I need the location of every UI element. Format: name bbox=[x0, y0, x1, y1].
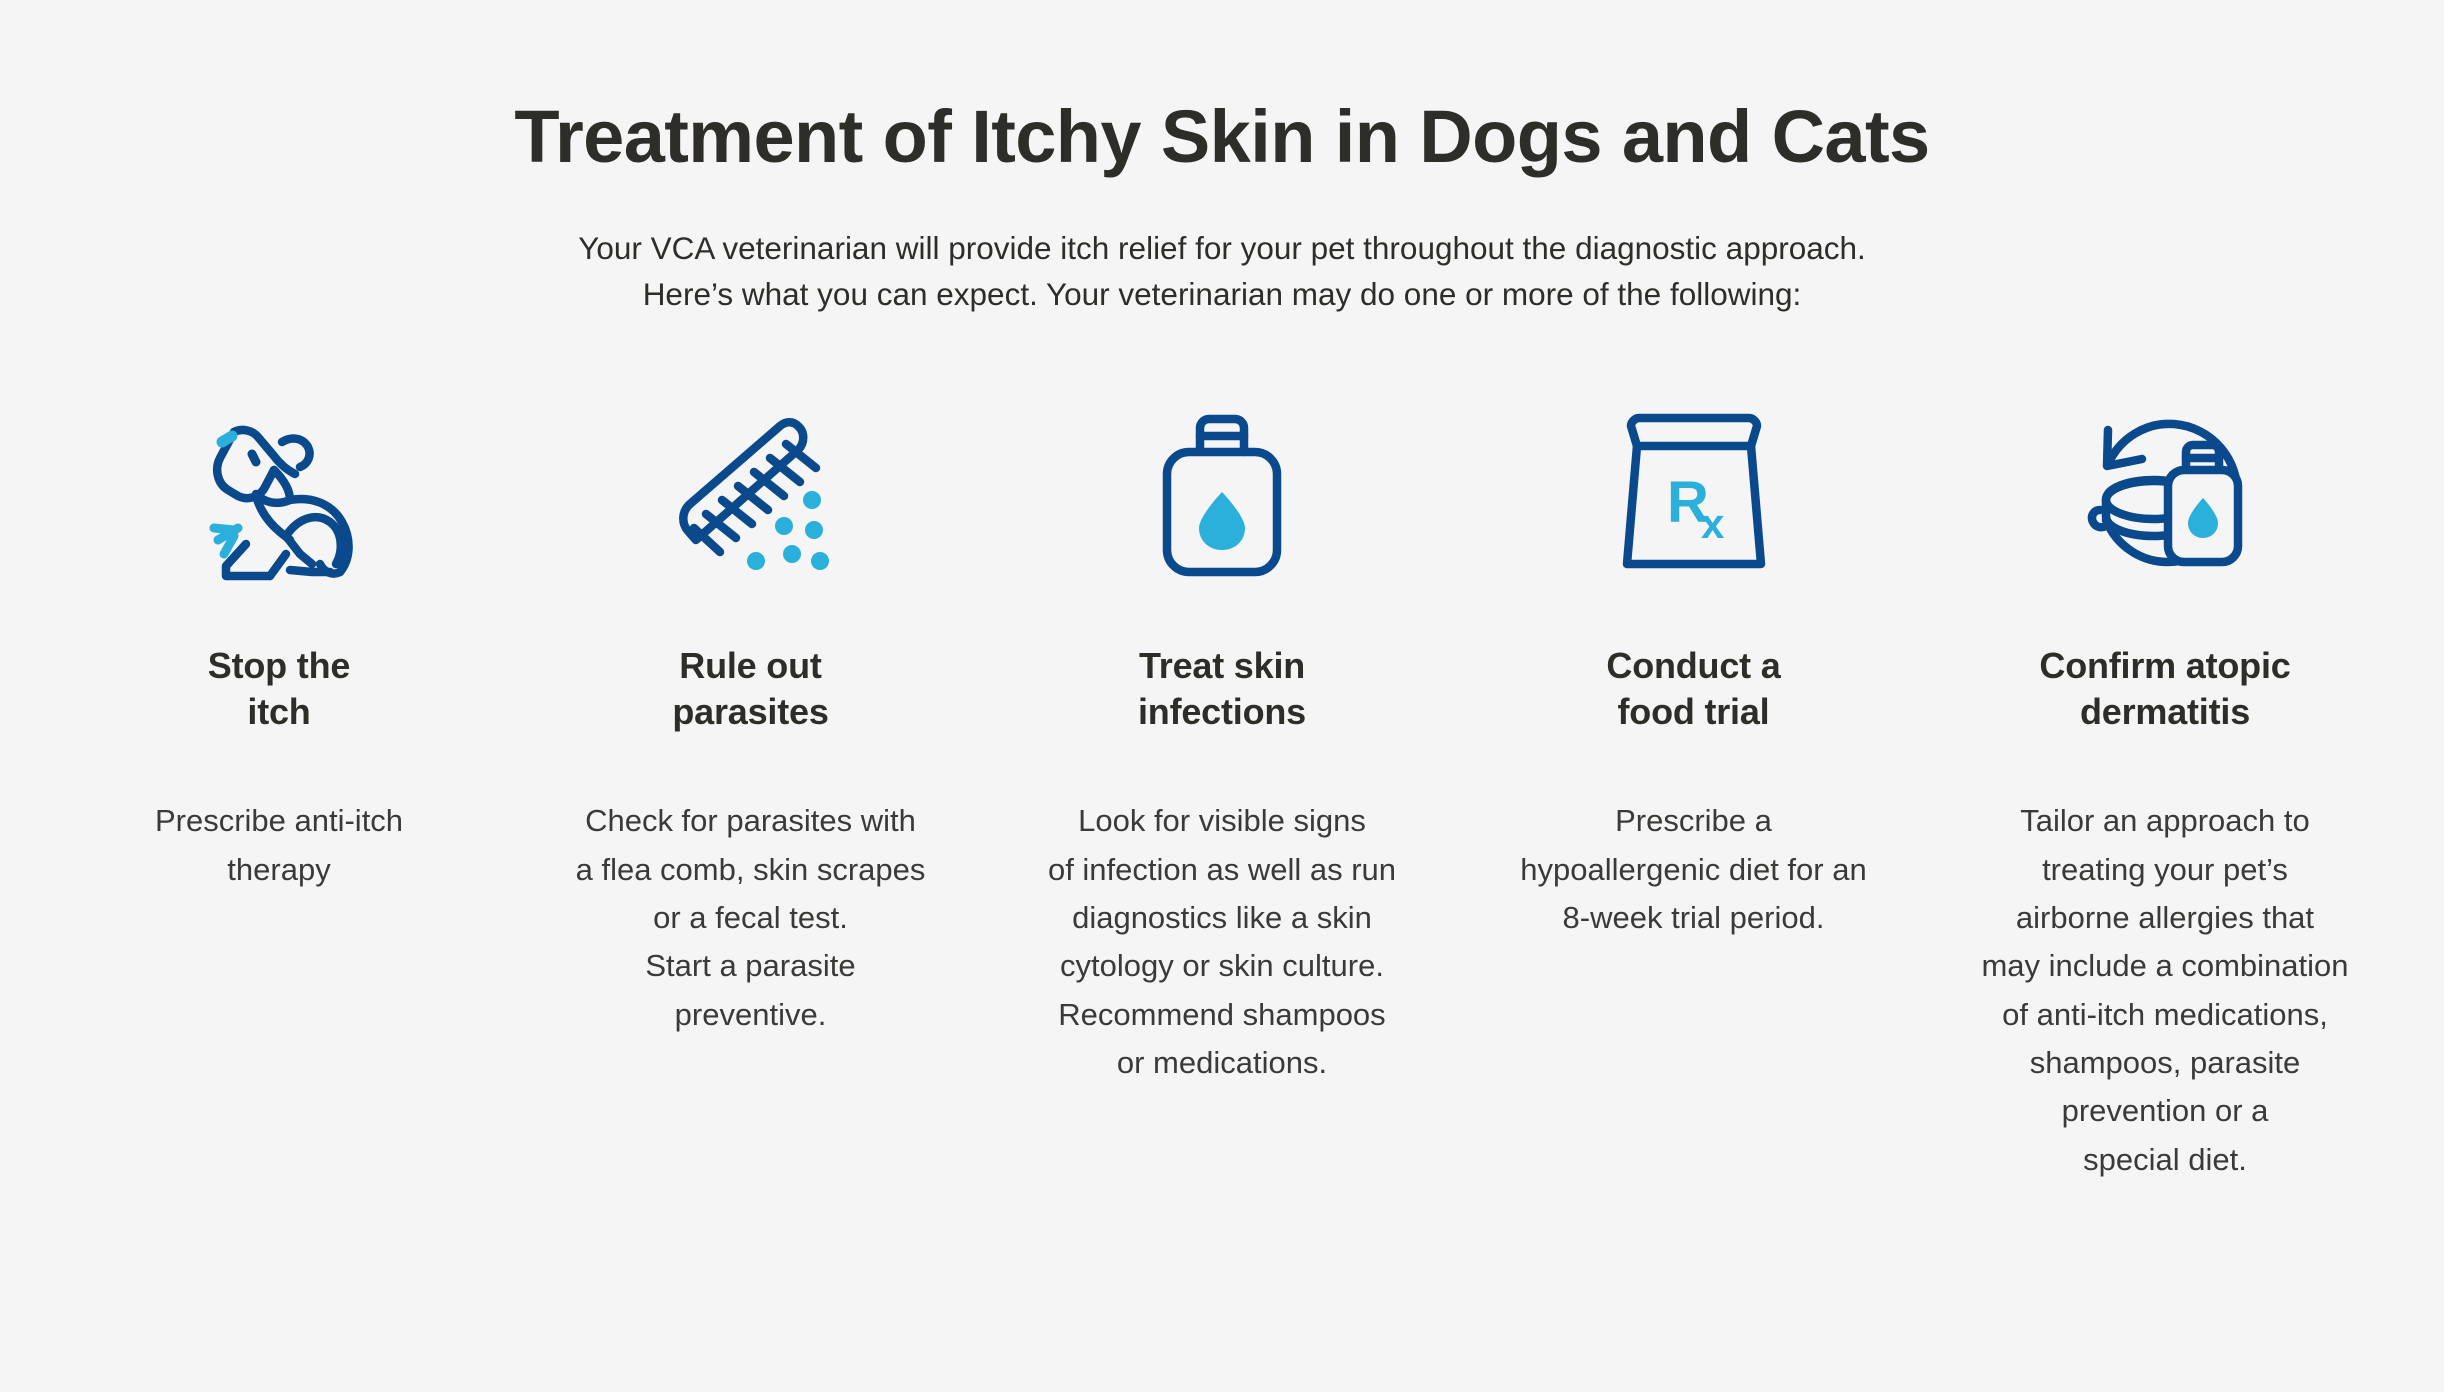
step-body-line: special diet. bbox=[1981, 1136, 2348, 1184]
step-body-line: diagnostics like a skin bbox=[1048, 894, 1396, 942]
step-title: Treat skin infections bbox=[1138, 643, 1306, 735]
step-title-line-1: Conduct a bbox=[1606, 643, 1780, 689]
step-body-line: of anti-itch medications, bbox=[1981, 991, 2348, 1039]
step-body-line: hypoallergenic diet for an bbox=[1520, 846, 1866, 894]
step-title-line-2: dermatitis bbox=[2039, 689, 2290, 735]
step-body-line: of infection as well as run bbox=[1048, 846, 1396, 894]
step-body-line: airborne allergies that bbox=[1981, 894, 2348, 942]
step-column-conduct-a-food-trial: R x Conduct a food trial Prescribe a hyp… bbox=[1475, 398, 1913, 942]
step-body-line: treating your pet’s bbox=[1981, 846, 2348, 894]
step-column-treat-skin-infections: Treat skin infections Look for visible s… bbox=[1003, 398, 1441, 1087]
step-body-line: Start a parasite bbox=[576, 942, 926, 990]
step-title-line-2: food trial bbox=[1606, 689, 1780, 735]
step-title-line-1: Rule out bbox=[672, 643, 828, 689]
step-title: Confirm atopic dermatitis bbox=[2039, 643, 2290, 735]
subtitle-line-1: Your VCA veterinarian will provide itch … bbox=[578, 225, 1866, 272]
step-body: Check for parasites with a flea comb, sk… bbox=[576, 797, 926, 1039]
page-subtitle: Your VCA veterinarian will provide itch … bbox=[578, 225, 1866, 318]
step-body-line: 8-week trial period. bbox=[1520, 894, 1866, 942]
step-body-line: shampoos, parasite bbox=[1981, 1039, 2348, 1087]
step-body-line: therapy bbox=[155, 846, 403, 894]
bowl-bottle-cycle-icon bbox=[2070, 398, 2260, 588]
step-body-line: Look for visible signs bbox=[1048, 797, 1396, 845]
step-body-line: cytology or skin culture. bbox=[1048, 942, 1396, 990]
step-column-confirm-atopic-dermatitis: Confirm atopic dermatitis Tailor an appr… bbox=[1946, 398, 2384, 1184]
step-body-line: or a fecal test. bbox=[576, 894, 926, 942]
svg-text:x: x bbox=[1701, 500, 1725, 547]
step-column-rule-out-parasites: Rule out parasites Check for parasites w… bbox=[532, 398, 970, 1039]
step-title-line-2: parasites bbox=[672, 689, 828, 735]
step-title-line-2: itch bbox=[208, 689, 350, 735]
page-title: Treatment of Itchy Skin in Dogs and Cats bbox=[514, 96, 1929, 179]
step-title: Conduct a food trial bbox=[1606, 643, 1780, 735]
step-title-line-2: infections bbox=[1138, 689, 1306, 735]
step-body: Look for visible signs of infection as w… bbox=[1048, 797, 1396, 1087]
step-body: Tailor an approach to treating your pet’… bbox=[1981, 797, 2348, 1184]
step-body-line: Prescribe anti-itch bbox=[155, 797, 403, 845]
step-body-line: Check for parasites with bbox=[576, 797, 926, 845]
step-body-line: a flea comb, skin scrapes bbox=[576, 846, 926, 894]
step-body: Prescribe a hypoallergenic diet for an 8… bbox=[1520, 797, 1866, 942]
step-body-line: Tailor an approach to bbox=[1981, 797, 2348, 845]
subtitle-line-2: Here’s what you can expect. Your veterin… bbox=[578, 271, 1866, 318]
step-body-line: prevention or a bbox=[1981, 1087, 2348, 1135]
step-body-line: Prescribe a bbox=[1520, 797, 1866, 845]
step-body-line: preventive. bbox=[576, 991, 926, 1039]
infographic-page: Treatment of Itchy Skin in Dogs and Cats… bbox=[0, 0, 2444, 1392]
step-body-line: may include a combination bbox=[1981, 942, 2348, 990]
flea-comb-icon bbox=[656, 398, 846, 588]
step-body: Prescribe anti-itch therapy bbox=[155, 797, 403, 894]
step-title: Stop the itch bbox=[208, 643, 350, 735]
step-title: Rule out parasites bbox=[672, 643, 828, 735]
treatment-steps-row: Stop the itch Prescribe anti-itch therap… bbox=[0, 398, 2444, 1184]
scratching-dog-icon bbox=[184, 398, 374, 588]
prescription-food-bag-icon: R x bbox=[1599, 398, 1789, 588]
step-column-stop-the-itch: Stop the itch Prescribe anti-itch therap… bbox=[60, 398, 498, 894]
shampoo-bottle-icon bbox=[1127, 398, 1317, 588]
step-title-line-1: Stop the bbox=[208, 643, 350, 689]
step-body-line: or medications. bbox=[1048, 1039, 1396, 1087]
step-title-line-1: Confirm atopic bbox=[2039, 643, 2290, 689]
step-body-line: Recommend shampoos bbox=[1048, 991, 1396, 1039]
step-title-line-1: Treat skin bbox=[1138, 643, 1306, 689]
